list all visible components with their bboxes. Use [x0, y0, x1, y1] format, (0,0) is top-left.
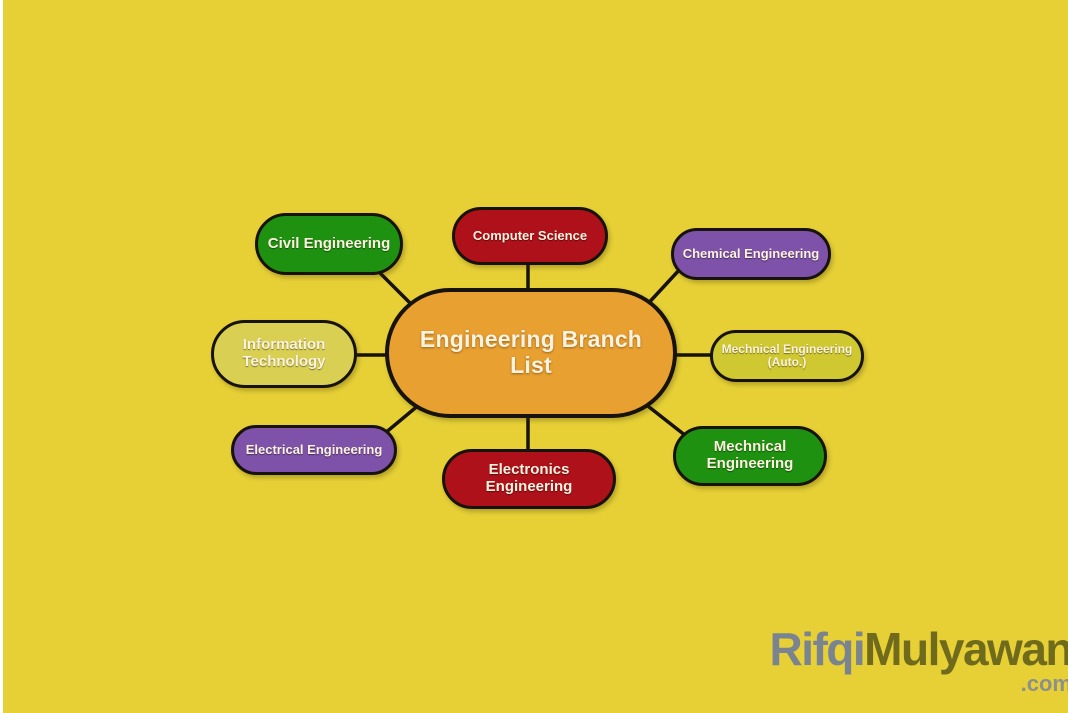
branch-node-chemical-label: Chemical Engineering [683, 247, 820, 262]
branch-node-electronics-label: Electronics Engineering [453, 462, 605, 496]
watermark: RifqiMulyawan .com [769, 626, 1068, 695]
branch-node-information-technology-label: Information Technology [222, 337, 346, 371]
branch-node-mechnical-auto-label: Mechnical Engineering (Auto.) [721, 343, 853, 370]
center-node-engineering-branch-list[interactable]: Engineering Branch List [385, 288, 677, 418]
watermark-part1: Rifqi [769, 623, 864, 675]
center-node-label: Engineering Branch List [397, 327, 665, 379]
watermark-tld: .com [769, 673, 1068, 695]
branch-node-computer-science[interactable]: Computer Science [452, 207, 608, 265]
branch-node-information-technology[interactable]: Information Technology [211, 320, 357, 388]
branch-node-civil[interactable]: Civil Engineering [255, 213, 403, 275]
branch-node-mechnical-label: Mechnical Engineering [684, 439, 816, 473]
branch-node-computer-science-label: Computer Science [473, 229, 587, 244]
branch-node-mechnical-auto[interactable]: Mechnical Engineering (Auto.) [710, 330, 864, 382]
edge-electrical [384, 404, 420, 434]
branch-node-chemical[interactable]: Chemical Engineering [671, 228, 831, 280]
watermark-part2: Mulyawan [864, 623, 1068, 675]
branch-node-electrical[interactable]: Electrical Engineering [231, 425, 397, 475]
branch-node-civil-label: Civil Engineering [268, 236, 391, 253]
branch-node-mechnical[interactable]: Mechnical Engineering [673, 426, 827, 486]
branch-node-electrical-label: Electrical Engineering [246, 443, 383, 458]
branch-node-electronics[interactable]: Electronics Engineering [442, 449, 616, 509]
mindmap-canvas: Engineering Branch List Civil Engineerin… [0, 0, 1068, 713]
watermark-brand: RifqiMulyawan [769, 626, 1068, 672]
edge-mechnical [644, 403, 686, 436]
